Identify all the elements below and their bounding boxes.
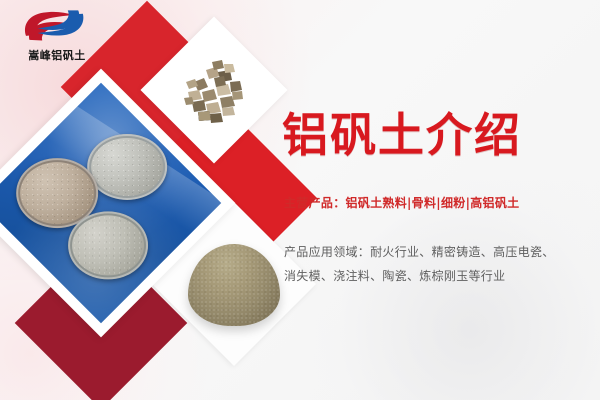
bauxite-aggregate-pile — [178, 52, 252, 128]
powder-texture — [72, 215, 144, 275]
powder-fill — [91, 138, 163, 196]
description-line-1: 产品应用领域：耐火行业、精密铸造、高压电瓷、 — [284, 240, 584, 264]
description-line-2: 消失模、浇注料、陶瓷、炼棕刚玉等行业 — [284, 264, 584, 288]
stylized-s-monogram-icon — [20, 8, 90, 44]
logo-wordmark: 嵩峰铝矾土 — [14, 47, 100, 63]
powder-fill — [72, 215, 144, 275]
powder-fill — [20, 162, 94, 224]
company-logo[interactable]: 嵩峰铝矾土 — [14, 8, 100, 63]
banner-description: 产品应用领域：耐火行业、精密铸造、高压电瓷、 消失模、浇注料、陶瓷、炼棕刚玉等行… — [284, 240, 584, 288]
powder-texture — [20, 162, 94, 224]
banner-text-block: 铝矾土介绍 主营产品：铝矾土熟料|骨料|细粉|高铝矾土 产品应用领域：耐火行业、… — [282, 0, 600, 400]
aggregate-chunks-svg — [178, 52, 252, 128]
powder-dish-grey-right — [68, 211, 148, 279]
powder-dish-grey-top — [87, 134, 167, 200]
powder-texture — [91, 138, 163, 196]
bauxite-product-banner: 嵩峰铝矾土 铝矾土介绍 主营产品：铝矾土熟料|骨料|细粉|高铝矾土 产品应用领域… — [0, 0, 600, 400]
banner-headline: 铝矾土介绍 — [282, 108, 522, 162]
banner-subline-products: 主营产品：铝矾土熟料|骨料|细粉|高铝矾土 — [284, 194, 519, 211]
